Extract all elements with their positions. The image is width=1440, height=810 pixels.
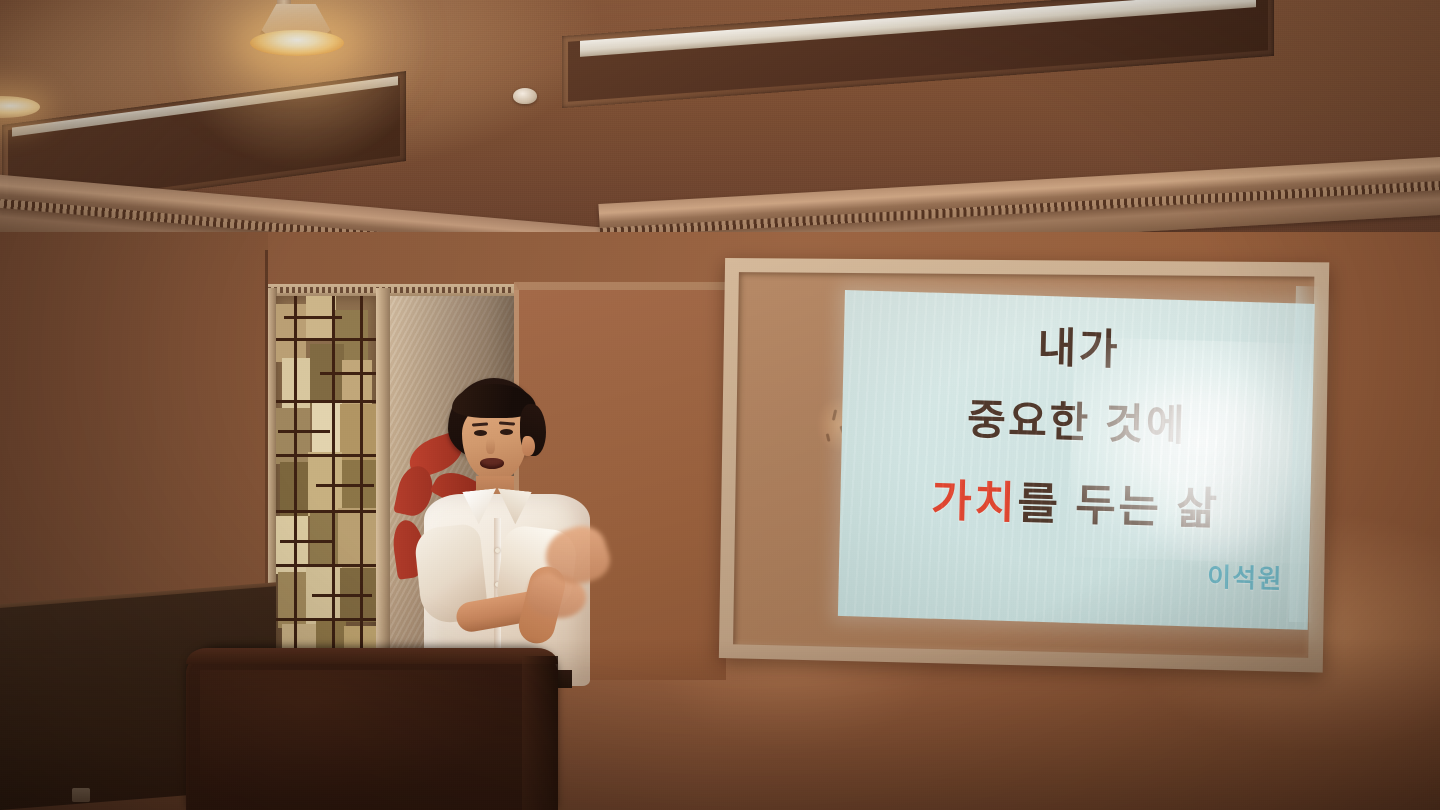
decor-panel-top-trim — [268, 284, 514, 296]
photograph-scene: 내가 중요한 것에 가치를 두는 삶 이석원 — [0, 0, 1440, 810]
decor-panel-right-trim — [376, 288, 390, 676]
presenter-mouth — [480, 458, 504, 469]
slide-title-line-2: 중요한 것에 — [842, 382, 1313, 457]
sprinkler-head-icon — [513, 88, 537, 104]
presenter-ear — [522, 436, 535, 456]
slide-author-name: 이석원 — [1207, 557, 1283, 596]
presenter-eye-left — [474, 430, 487, 436]
presenter-eye-right — [500, 429, 513, 435]
slide-title-line-1: 내가 — [843, 308, 1314, 383]
slide-line-3-rest: 를 두는 삶 — [1017, 479, 1220, 534]
slide-highlight-text: 가치 — [931, 477, 1018, 529]
presenter — [400, 378, 640, 678]
projected-slide: 내가 중요한 것에 가치를 두는 삶 이석원 — [838, 290, 1315, 630]
pendant-lamp-bulb-icon — [250, 30, 344, 56]
shirt-button — [495, 548, 500, 553]
slide-title-line-3: 가치를 두는 삶 — [840, 462, 1311, 540]
floor-shadow — [0, 640, 1440, 810]
decorative-wall-panel — [276, 296, 376, 668]
presenter-nose — [486, 438, 495, 454]
